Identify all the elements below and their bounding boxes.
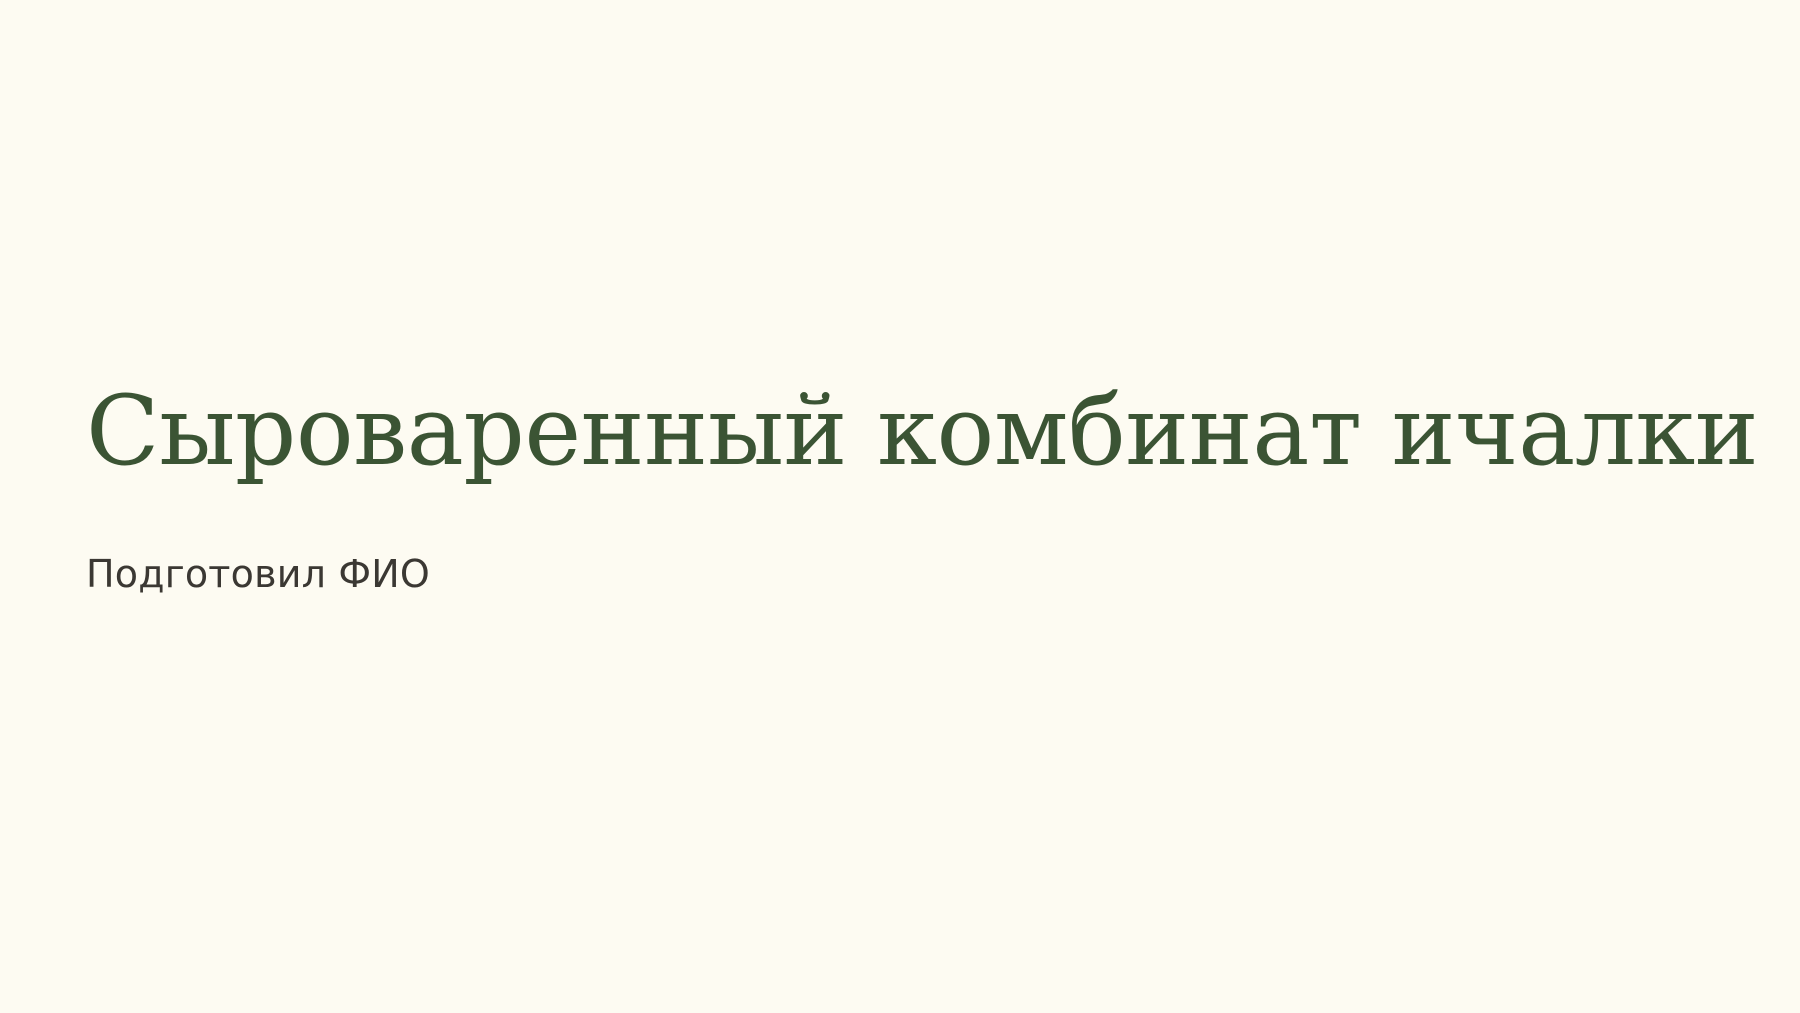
title-block: Сыроваренный комбинат ичалки Подготовил … bbox=[86, 380, 1726, 597]
presentation-slide: Сыроваренный комбинат ичалки Подготовил … bbox=[0, 0, 1800, 1013]
slide-subtitle: Подготовил ФИО bbox=[86, 484, 1726, 598]
page-title: Сыроваренный комбинат ичалки bbox=[86, 380, 1726, 484]
